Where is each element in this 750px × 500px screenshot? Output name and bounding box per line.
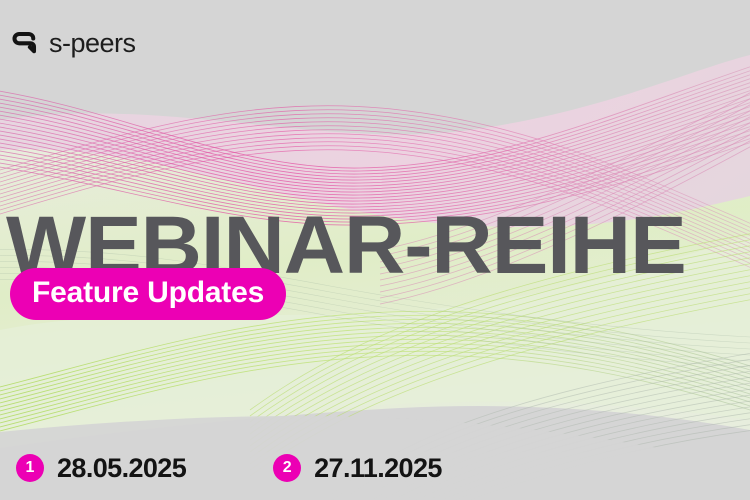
- feature-updates-label: Feature Updates: [32, 276, 264, 309]
- logo[interactable]: s-peers: [10, 28, 136, 58]
- date-value-1: 28.05.2025: [57, 455, 186, 482]
- webinar-banner: s-peers WEBINAR-REIHE Feature Updates 1 …: [0, 0, 750, 500]
- date-row: 1 28.05.2025 2 27.11.2025: [16, 454, 442, 482]
- date-value-2: 27.11.2025: [314, 455, 442, 482]
- date-number-badge-1: 1: [16, 454, 44, 482]
- date-item-1: 1 28.05.2025: [16, 454, 186, 482]
- s-peers-mark-icon: [10, 28, 40, 58]
- date-item-2: 2 27.11.2025: [273, 454, 442, 482]
- logo-wordmark: s-peers: [49, 30, 136, 57]
- feature-updates-badge: Feature Updates: [10, 268, 286, 320]
- date-number-badge-2: 2: [273, 454, 301, 482]
